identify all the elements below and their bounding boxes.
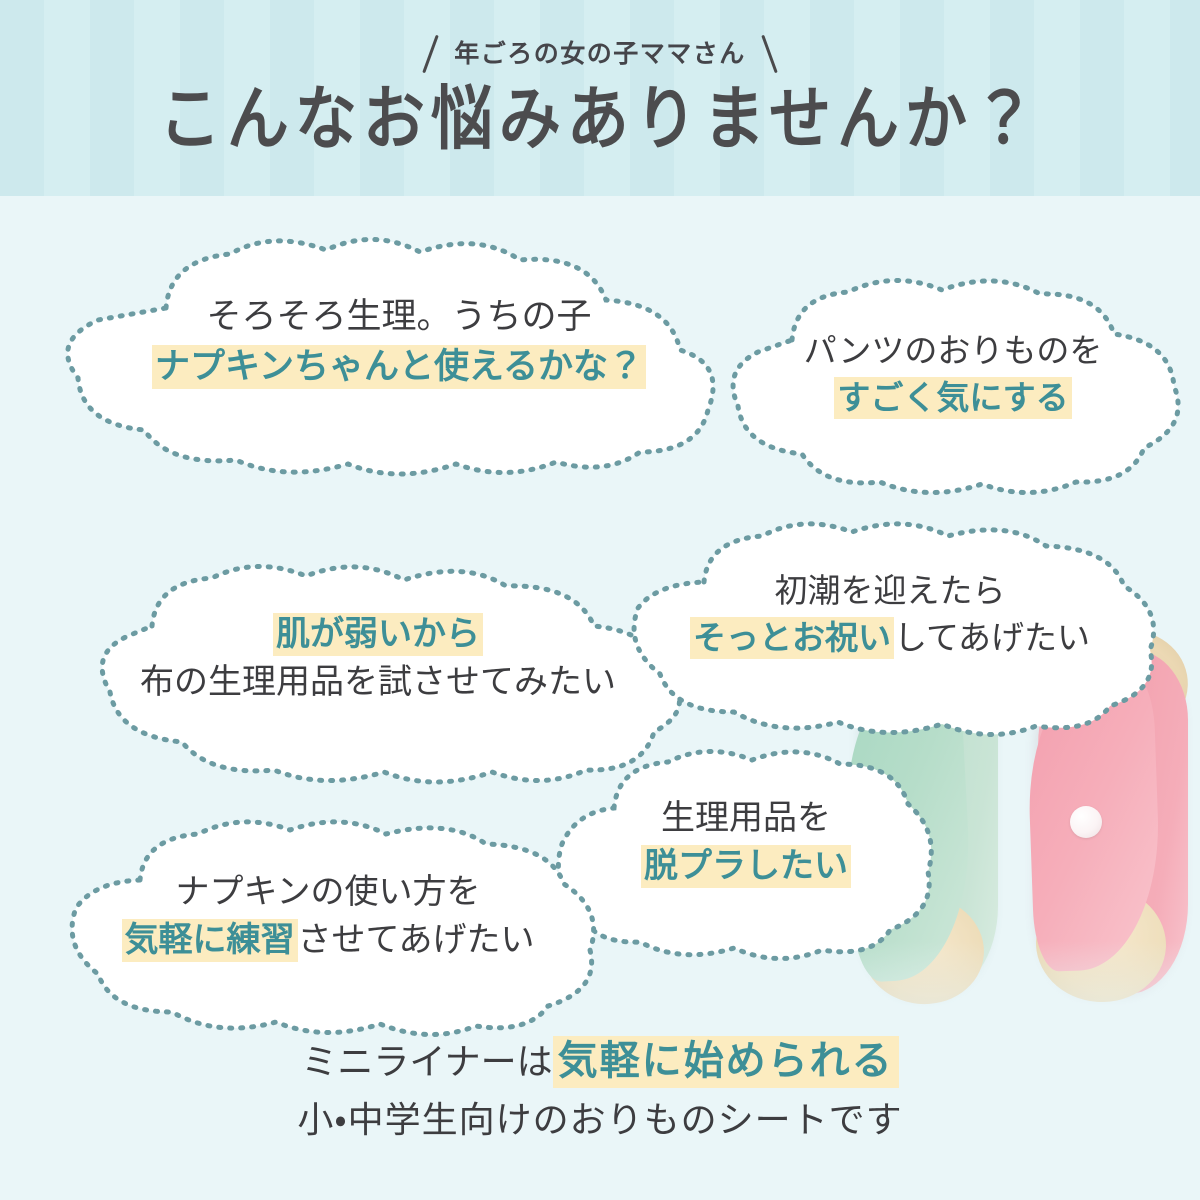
bubble-6-line2-highlight: 気軽に練習 [122, 919, 298, 962]
eyebrow-text: 年ごろの女の子ママさん [454, 42, 746, 67]
slash-right-icon [761, 35, 777, 74]
speech-bubble-4: 初潮を迎えたら そっとお祝いしてあげたい [612, 524, 1168, 738]
bubble-1-line1: そろそろ生理。うちの子 [206, 297, 591, 336]
bubble-5-line2-highlight: 脱プラしたい [641, 845, 851, 888]
advertisement-canvas: 年ごろの女の子ママさん こんなお悩みありませんか？ そろそろ生理。うちの子 ナプ… [0, 0, 1200, 1200]
speech-bubble-1: そろそろ生理。うちの子 ナプキンちゃんと使えるかな？ [58, 238, 740, 476]
bubble-4-line2-highlight: そっとお祝い [690, 617, 894, 659]
eyebrow-row: 年ごろの女の子ママさん [0, 34, 1200, 74]
bubble-6-line1: ナプキンの使い方を [176, 873, 481, 911]
speech-bubble-2: パンツのおりものを すごく気にする [718, 278, 1188, 500]
header-banner: 年ごろの女の子ママさん こんなお悩みありませんか？ [0, 0, 1200, 196]
bubble-2-line1: パンツのおりものを [804, 332, 1103, 369]
bubble-2-line2-highlight: すごく気にする [834, 377, 1071, 419]
pink-pad-lining-bottom [1032, 882, 1170, 1007]
pink-pad-snap-button-icon [1070, 806, 1102, 838]
footer-summary: ミニライナーは気軽に始められる 小・中学生向けのおりものシートです [0, 1030, 1200, 1148]
bubble-3-text: 肌が弱いから 布の生理用品を試させてみたい [48, 610, 708, 707]
slash-left-icon [422, 35, 438, 74]
page-title: こんなお悩みありませんか？ [0, 80, 1200, 160]
bubble-3-line2: 布の生理用品を試させてみたい [140, 663, 616, 701]
bubble-3-line1-highlight: 肌が弱いから [273, 613, 483, 656]
bubble-4-text: 初潮を迎えたら そっとお祝いしてあげたい [612, 568, 1168, 662]
footer-line-2: 小・中学生向けのおりものシートです [0, 1092, 1200, 1148]
bubble-4-line1: 初潮を迎えたら [775, 572, 1006, 609]
bubble-6-text: ナプキンの使い方を 気軽に練習させてあげたい [48, 868, 608, 965]
footer-line-1: ミニライナーは気軽に始められる [0, 1030, 1200, 1092]
bubble-1-text: そろそろ生理。うちの子 ナプキンちゃんと使えるかな？ [58, 292, 740, 391]
bubble-5-line1: 生理用品を [661, 799, 831, 837]
speech-bubble-6: ナプキンの使い方を 気軽に練習させてあげたい [48, 822, 608, 1038]
bubble-2-text: パンツのおりものを すごく気にする [718, 328, 1188, 422]
bubble-1-line2-highlight: ナプキンちゃんと使えるかな？ [152, 345, 646, 389]
bubble-6-line2-tail: させてあげたい [298, 921, 535, 959]
footer-line1-prefix: ミニライナーは [301, 1041, 552, 1082]
bubble-4-line2-tail: してあげたい [894, 619, 1090, 656]
footer-line1-highlight: 気軽に始められる [553, 1036, 899, 1088]
